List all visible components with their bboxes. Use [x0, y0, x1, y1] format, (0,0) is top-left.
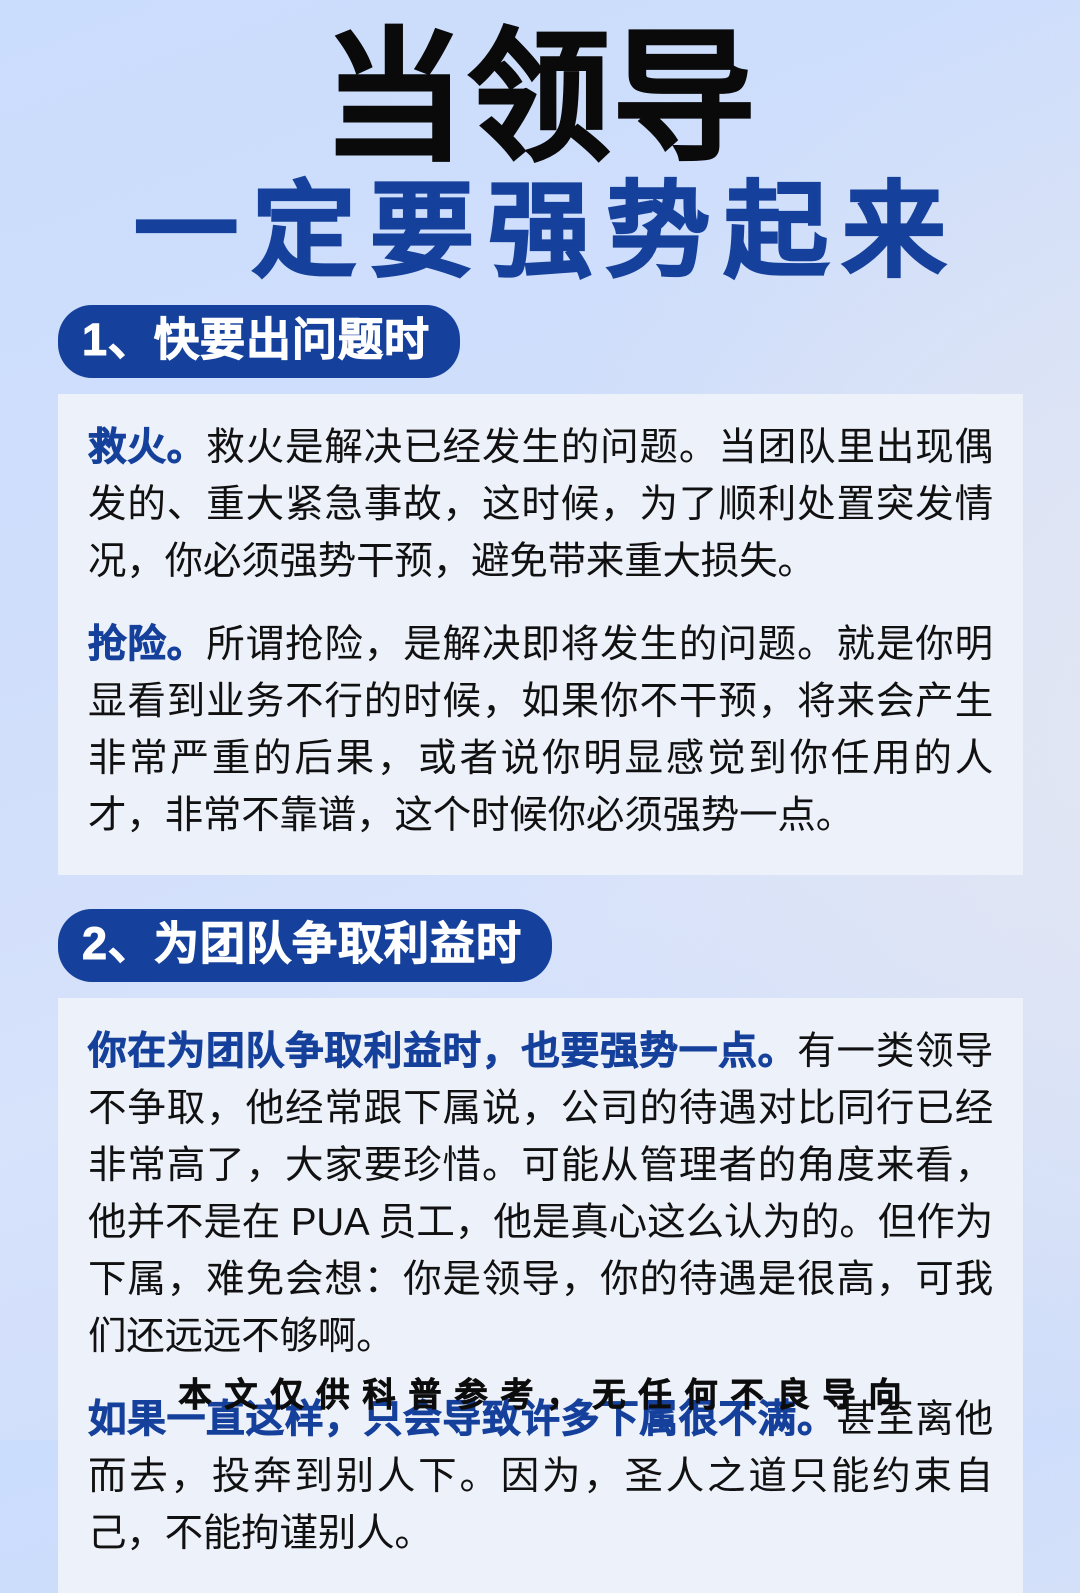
section-2-pill-label: 2、为团队争取利益时: [58, 909, 552, 982]
section-1-pill-label: 1、快要出问题时: [58, 305, 460, 378]
section-2-paragraph-2: 如果一直这样，只会导致许多下属很不满。甚至离他而去，投奔到别人下。因为，圣人之道…: [88, 1392, 993, 1563]
section-1-paragraph-2-body: 所谓抢险，是解决即将发生的问题。就是你明显看到业务不行的时候，如果你不干预，将来…: [88, 623, 993, 837]
poster-title-block: 当领导 一定要强势起来: [0, 0, 1080, 287]
footer-disclaimer: 本文仅供科普参考，无任何不良导向: [0, 1368, 1080, 1416]
section-1-paragraph-1-lead: 救火。: [88, 426, 206, 469]
section-1-paragraph-2-lead: 抢险。: [88, 623, 206, 666]
section-1-paragraph-1: 救火。救火是解决已经发生的问题。当团队里出现偶发的、重大紧急事故，这时候，为了顺…: [88, 420, 993, 591]
section-1-header: 1、快要出问题时: [58, 305, 1080, 378]
page-title-secondary: 一定要强势起来: [0, 178, 1080, 287]
section-1-card: 救火。救火是解决已经发生的问题。当团队里出现偶发的、重大紧急事故，这时候，为了顺…: [58, 394, 1023, 875]
section-2-paragraph-1: 你在为团队争取利益时，也要强势一点。有一类领导不争取，他经常跟下属说，公司的待遇…: [88, 1024, 993, 1366]
section-2-header: 2、为团队争取利益时: [58, 909, 1080, 982]
section-2-paragraph-1-lead: 你在为团队争取利益时，也要强势一点。: [88, 1030, 797, 1073]
page-title-primary: 当领导: [0, 26, 1080, 172]
poster-root: 当领导 一定要强势起来 1、快要出问题时 救火。救火是解决已经发生的问题。当团队…: [0, 0, 1080, 1440]
section-2-paragraph-1-body: 有一类领导不争取，他经常跟下属说，公司的待遇对比同行已经非常高了，大家要珍惜。可…: [88, 1030, 993, 1358]
section-1-paragraph-1-body: 救火是解决已经发生的问题。当团队里出现偶发的、重大紧急事故，这时候，为了顺利处置…: [88, 426, 993, 583]
section-1-paragraph-2: 抢险。所谓抢险，是解决即将发生的问题。就是你明显看到业务不行的时候，如果你不干预…: [88, 617, 993, 845]
section-2-card: 你在为团队争取利益时，也要强势一点。有一类领导不争取，他经常跟下属说，公司的待遇…: [58, 998, 1023, 1593]
